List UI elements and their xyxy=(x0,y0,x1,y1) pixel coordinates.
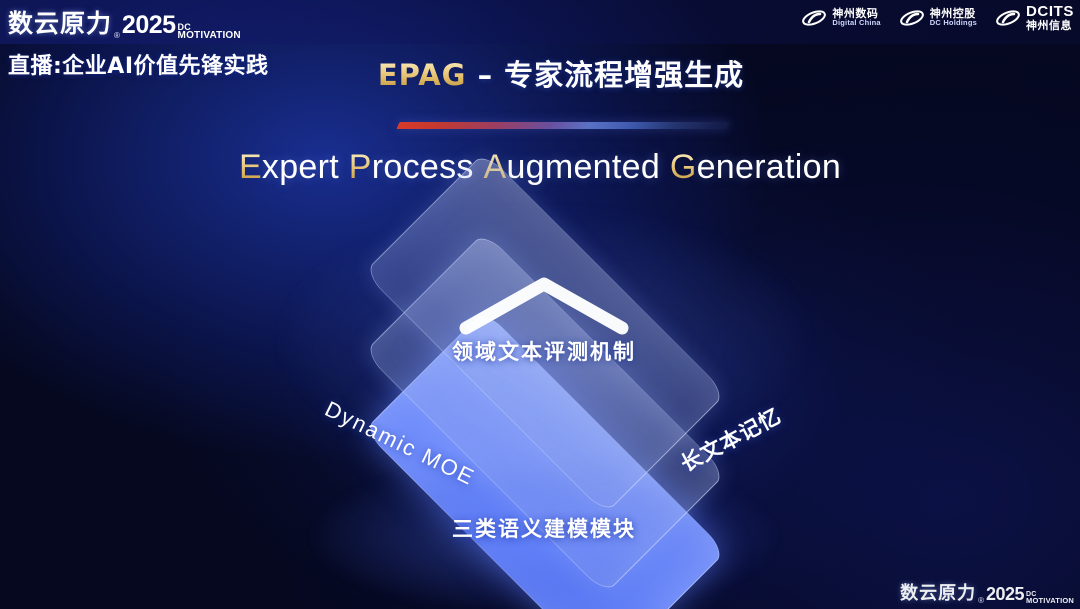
brand-year: 2025 xyxy=(986,584,1024,605)
swirl-icon xyxy=(899,7,925,29)
brand-dc-motivation: DC MOTIVATION xyxy=(1026,592,1074,605)
partner-text: 神州控股 DC Holdings xyxy=(930,8,977,27)
brand-name-cn: 数云原力 xyxy=(900,579,976,605)
title-dash: – xyxy=(466,58,504,92)
slide-canvas: 数云原力 ® 2025 DC MOTIVATION 直播:企业AI价值先锋实践 … xyxy=(0,0,1080,609)
layer-stack-diagram: 领域文本评测机制 Dynamic MOE 长文本记忆 三类语义建模模块 xyxy=(264,224,824,584)
slide-title: EPAG – 专家流程增强生成 xyxy=(0,52,1080,94)
partner-name-en: DC Holdings xyxy=(930,19,977,27)
title-cn: 专家流程增强生成 xyxy=(504,58,744,92)
partner-name-en: Digital China xyxy=(832,19,880,27)
brand-dc-line2: MOTIVATION xyxy=(178,31,241,40)
expansion-rest-a: ugmented xyxy=(506,148,660,186)
swirl-icon xyxy=(801,7,827,29)
brand-logo-top: 数云原力 ® 2025 DC MOTIVATION xyxy=(8,4,241,40)
expansion-cap-p: P xyxy=(349,148,372,186)
brand-name-cn: 数云原力 xyxy=(8,4,112,40)
brand-year: 2025 xyxy=(122,11,176,40)
partner-name-en: DCITS xyxy=(1026,4,1074,20)
partner-logo-group: 神州数码 Digital China 神州控股 DC Holdings DCIT… xyxy=(801,4,1074,31)
partner-name-cn: 神州信息 xyxy=(1026,20,1074,32)
gradient-divider xyxy=(396,122,729,129)
registered-mark-icon: ® xyxy=(978,596,984,605)
partner-text: DCITS 神州信息 xyxy=(1026,4,1074,31)
partner-logo-dc-holdings: 神州控股 DC Holdings xyxy=(899,7,977,29)
expansion-rest-g: eneration xyxy=(697,148,841,186)
swirl-icon xyxy=(995,7,1021,29)
partner-logo-digital-china: 神州数码 Digital China xyxy=(801,7,880,29)
registered-mark-icon: ® xyxy=(114,31,120,40)
expansion-cap-e: E xyxy=(239,148,262,186)
expansion-cap-g: G xyxy=(670,148,697,186)
brand-dc-line2: MOTIVATION xyxy=(1026,598,1074,605)
partner-text: 神州数码 Digital China xyxy=(832,8,880,27)
acronym-expansion: Expert Process Augmented Generation xyxy=(0,148,1080,187)
brand-logo-watermark: 数云原力 ® 2025 DC MOTIVATION xyxy=(900,579,1074,605)
expansion-rest-e: xpert xyxy=(262,148,339,186)
brand-dc-motivation: DC MOTIVATION xyxy=(178,23,241,40)
title-acronym: EPAG xyxy=(378,58,467,92)
partner-logo-dcits: DCITS 神州信息 xyxy=(995,4,1074,31)
